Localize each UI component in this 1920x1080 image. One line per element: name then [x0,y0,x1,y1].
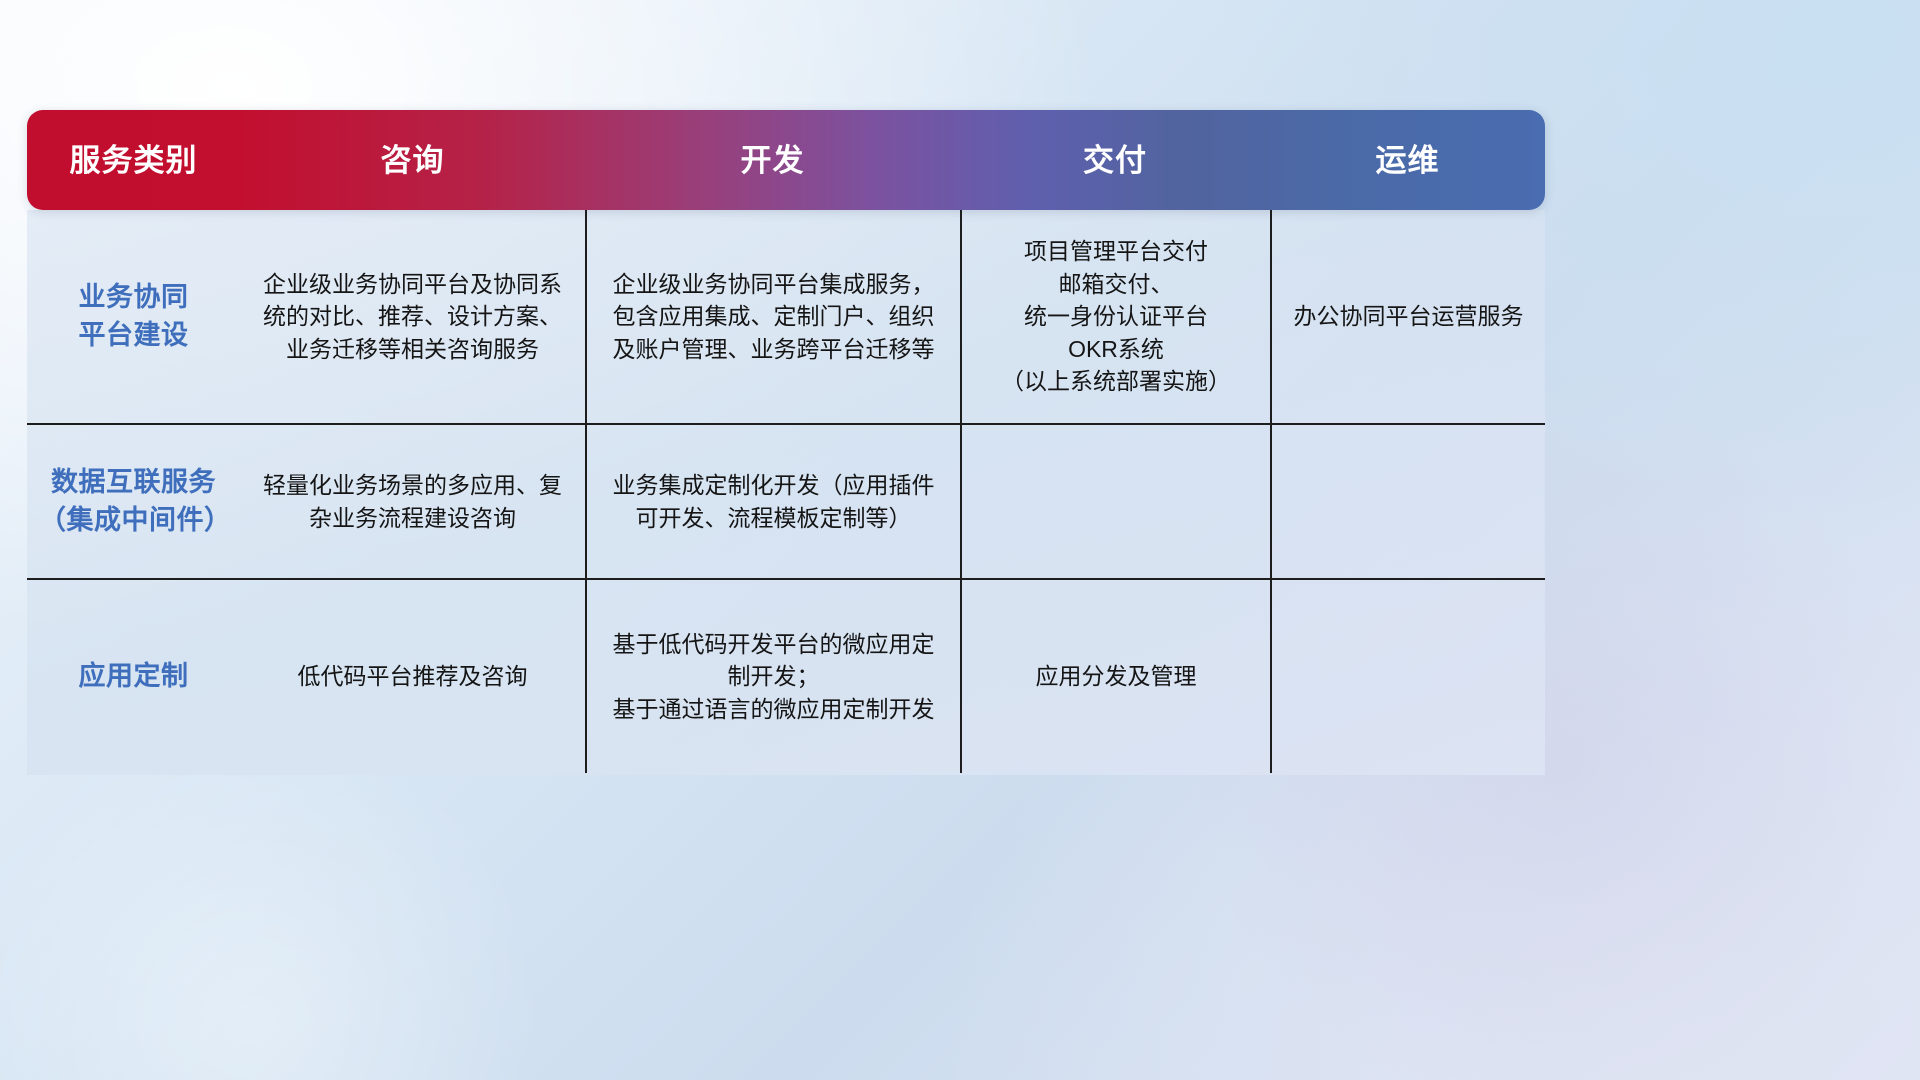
service-matrix-table: 服务类别 咨询 开发 交付 运维 业务协同 平台建设 企业级业务协同平台及协同系… [27,110,1545,775]
header-cell-consulting: 咨询 [240,145,585,176]
table-row: 业务协同 平台建设 企业级业务协同平台及协同系 统的对比、推荐、设计方案、 业务… [27,210,1545,425]
row-category-label: 应用定制 [27,580,240,773]
header-cell-operations: 运维 [1270,145,1545,176]
cell-consulting: 企业级业务协同平台及协同系 统的对比、推荐、设计方案、 业务迁移等相关咨询服务 [240,210,585,423]
cell-operations [1270,580,1545,773]
header-cell-development: 开发 [585,145,960,176]
cell-delivery [960,425,1270,578]
header-cell-delivery: 交付 [960,145,1270,176]
row-category-label: 业务协同 平台建设 [27,210,240,423]
cell-delivery: 项目管理平台交付 邮箱交付、 统一身份认证平台 OKR系统 （以上系统部署实施） [960,210,1270,423]
table-body: 业务协同 平台建设 企业级业务协同平台及协同系 统的对比、推荐、设计方案、 业务… [27,210,1545,775]
cell-operations [1270,425,1545,578]
table-row: 应用定制 低代码平台推荐及咨询 基于低代码开发平台的微应用定 制开发； 基于通过… [27,580,1545,773]
cell-consulting: 轻量化业务场景的多应用、复 杂业务流程建设咨询 [240,425,585,578]
cell-delivery: 应用分发及管理 [960,580,1270,773]
cell-development: 企业级业务协同平台集成服务， 包含应用集成、定制门户、组织 及账户管理、业务跨平… [585,210,960,423]
slide-canvas: 服务类别 咨询 开发 交付 运维 业务协同 平台建设 企业级业务协同平台及协同系… [0,0,1920,1080]
table-header-row: 服务类别 咨询 开发 交付 运维 [27,110,1545,210]
table-row: 数据互联服务 （集成中间件） 轻量化业务场景的多应用、复 杂业务流程建设咨询 业… [27,425,1545,580]
cell-operations: 办公协同平台运营服务 [1270,210,1545,423]
row-category-label: 数据互联服务 （集成中间件） [27,425,240,578]
cell-consulting: 低代码平台推荐及咨询 [240,580,585,773]
header-cell-service-category: 服务类别 [27,145,240,176]
cell-development: 基于低代码开发平台的微应用定 制开发； 基于通过语言的微应用定制开发 [585,580,960,773]
cell-development: 业务集成定制化开发（应用插件 可开发、流程模板定制等） [585,425,960,578]
